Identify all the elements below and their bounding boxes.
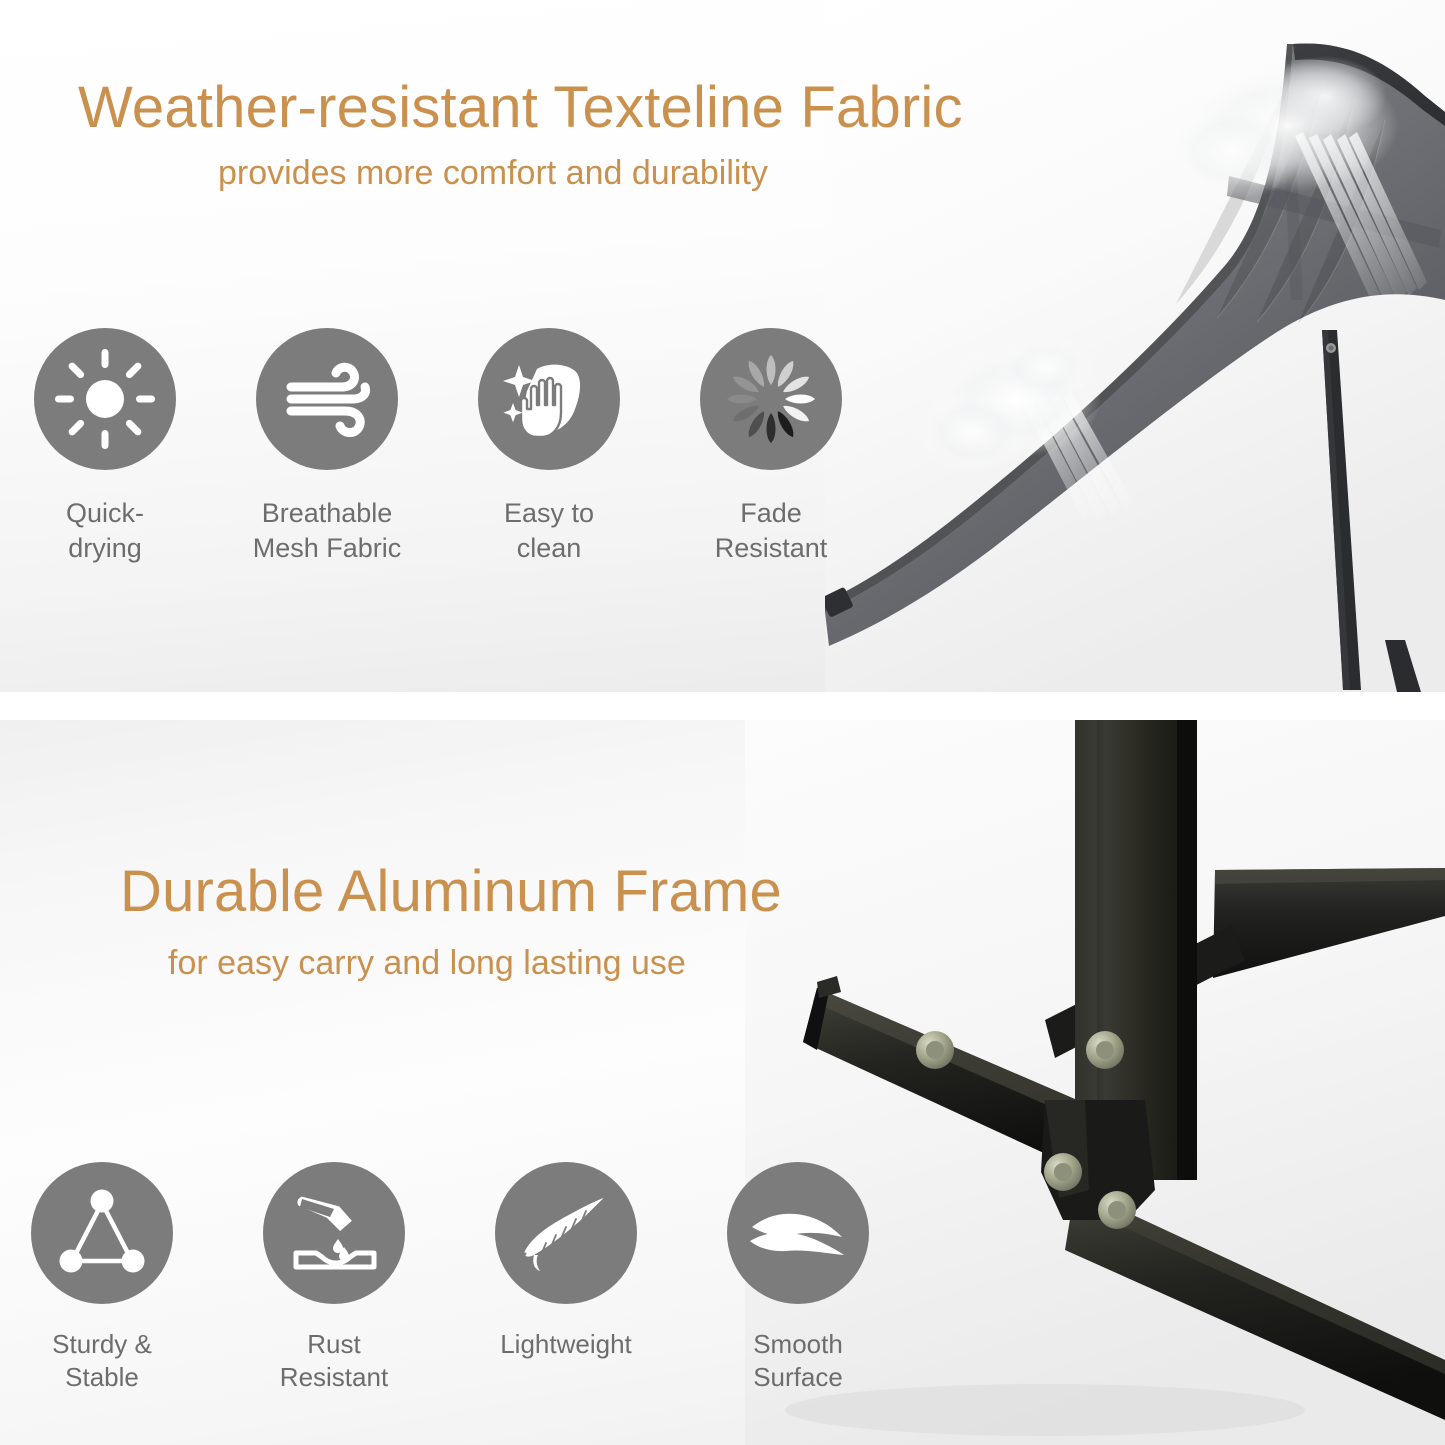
feature-sturdy-stable: Sturdy & Stable — [26, 1162, 178, 1395]
hand-wipe-sparkle-icon — [478, 328, 620, 470]
panel-divider — [0, 692, 1445, 720]
feature-fade-resistant: Fade Resistant — [696, 328, 846, 565]
feature-label: Sturdy & Stable — [26, 1328, 178, 1395]
color-fade-wheel-icon — [700, 328, 842, 470]
product-infographic: Weather-resistant Texteline Fabric provi… — [0, 0, 1445, 1445]
feature-label: Rust Resistant — [258, 1328, 410, 1395]
sun-icon — [34, 328, 176, 470]
frame-feature-row: Sturdy & Stable Rust Resistant — [26, 1162, 874, 1395]
feature-label: Smooth Surface — [722, 1328, 874, 1395]
wind-icon — [256, 328, 398, 470]
beaker-pour-surface-icon — [263, 1162, 405, 1304]
frame-subheading: for easy carry and long lasting use — [168, 945, 782, 982]
fabric-subheading: provides more comfort and durability — [218, 155, 963, 192]
feature-label: Quick-drying — [30, 496, 180, 565]
triangle-nodes-icon — [31, 1162, 173, 1304]
feature-rust-resistant: Rust Resistant — [258, 1162, 410, 1395]
feature-label: Breathable Mesh Fabric — [253, 496, 402, 565]
frame-heading-block: Durable Aluminum Frame for easy carry an… — [120, 862, 782, 982]
feature-label: Fade Resistant — [696, 496, 846, 565]
fabric-heading: Weather-resistant Texteline Fabric — [78, 78, 963, 139]
feature-easy-to-clean: Easy to clean — [474, 328, 624, 565]
feature-quick-drying: Quick-drying — [30, 328, 180, 565]
fabric-heading-block: Weather-resistant Texteline Fabric provi… — [78, 78, 963, 192]
panel-frame: Durable Aluminum Frame for easy carry an… — [0, 720, 1445, 1445]
feature-smooth-surface: Smooth Surface — [722, 1162, 874, 1395]
fabric-feature-row: Quick-drying Breathable Mesh Fabric — [30, 328, 846, 565]
feature-label: Lightweight — [500, 1328, 632, 1361]
feature-lightweight: Lightweight — [490, 1162, 642, 1361]
panel-fabric: Weather-resistant Texteline Fabric provi… — [0, 0, 1445, 692]
feature-label: Easy to clean — [474, 496, 624, 565]
frame-heading: Durable Aluminum Frame — [120, 862, 782, 923]
smooth-wave-icon — [727, 1162, 869, 1304]
feather-icon — [495, 1162, 637, 1304]
feature-breathable: Breathable Mesh Fabric — [252, 328, 402, 565]
